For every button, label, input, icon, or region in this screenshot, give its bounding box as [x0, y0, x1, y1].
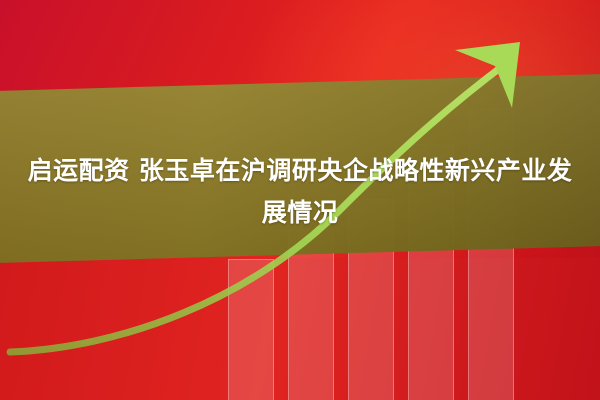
page-title: 启运配资 张玉卓在沪调研央企战略性新兴产业发展情况 — [18, 150, 582, 234]
news-thumbnail-image: 启运配资 张玉卓在沪调研央企战略性新兴产业发展情况 — [0, 0, 600, 400]
headline-container: 启运配资 张玉卓在沪调研央企战略性新兴产业发展情况 — [0, 150, 600, 234]
